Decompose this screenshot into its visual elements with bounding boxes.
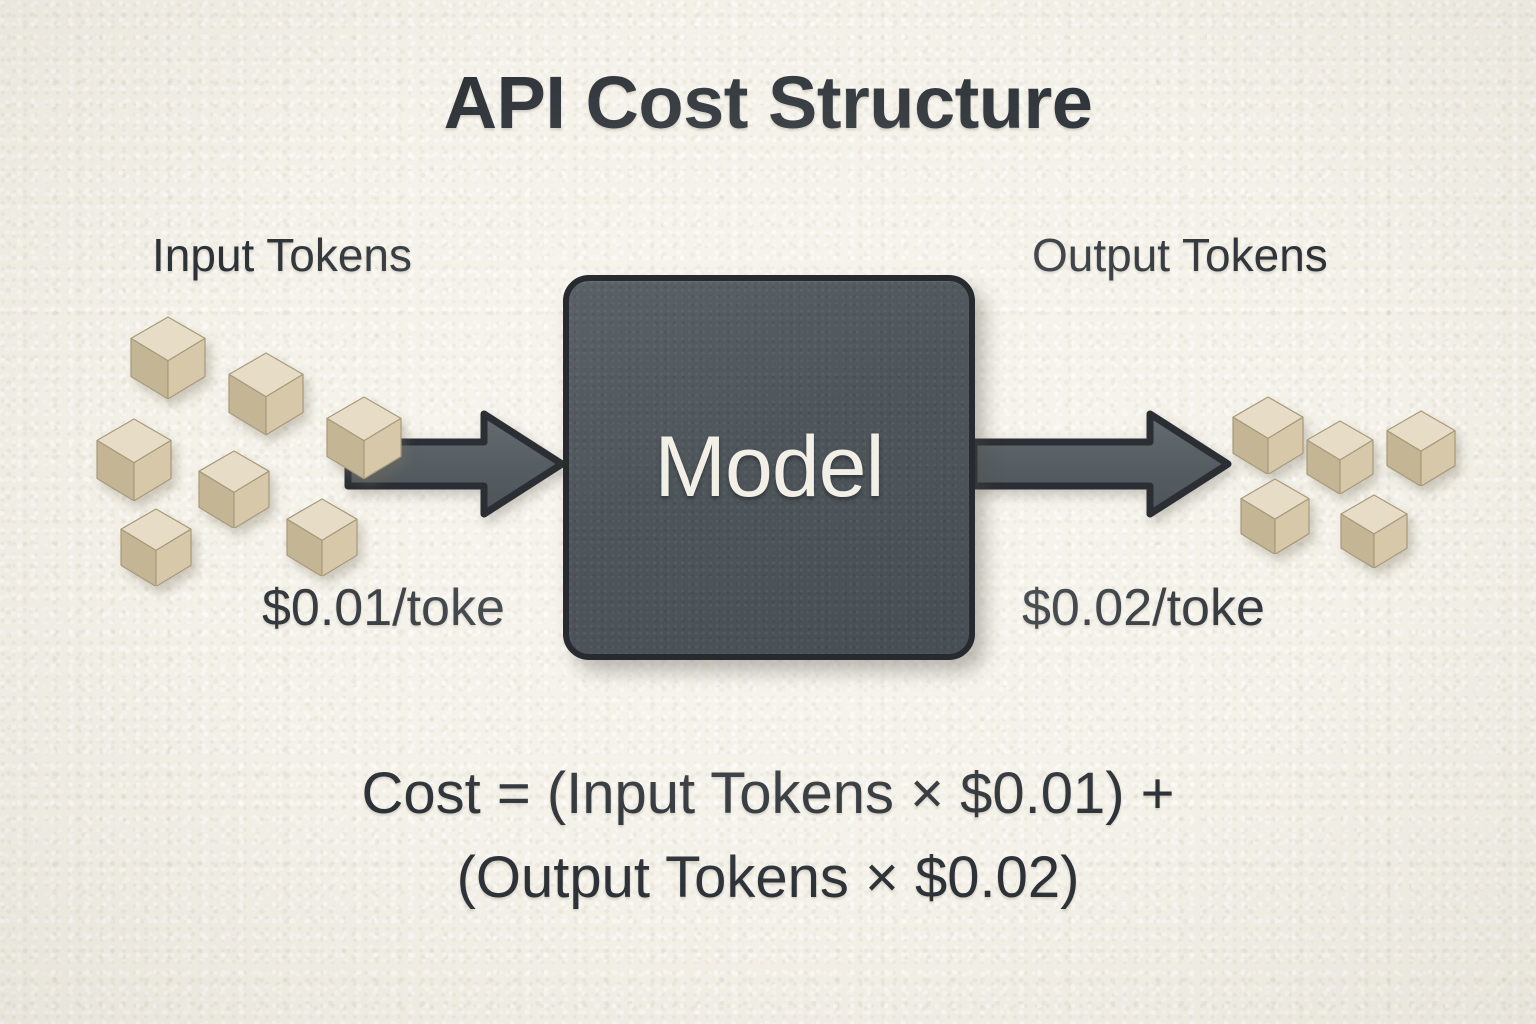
input-token-cube-icon	[96, 418, 172, 506]
input-price-label: $0.01/toke	[262, 578, 505, 638]
input-token-cube-icon	[120, 508, 192, 591]
output-token-cube-icon	[1306, 420, 1374, 499]
output-token-cube-icon	[1232, 396, 1304, 479]
cost-formula: Cost = (Input Tokens × $0.01) + (Output …	[0, 752, 1536, 920]
output-price-label: $0.02/toke	[1022, 578, 1265, 638]
output-flow-arrow-icon	[970, 408, 1234, 525]
model-box-label: Model	[654, 418, 883, 517]
input-token-cube-icon	[326, 396, 402, 484]
input-token-cube-icon	[228, 352, 304, 440]
diagram-canvas: API Cost Structure Input Tokens Output T…	[0, 0, 1536, 1024]
cost-formula-line-1: Cost = (Input Tokens × $0.01) +	[0, 752, 1536, 836]
input-token-cube-icon	[198, 450, 270, 533]
output-token-cube-icon	[1386, 410, 1456, 491]
page-title: API Cost Structure	[0, 60, 1536, 145]
input-token-cube-icon	[130, 316, 206, 404]
input-tokens-label: Input Tokens	[152, 228, 412, 282]
output-token-cube-icon	[1340, 494, 1408, 573]
model-box[interactable]: Model	[563, 275, 975, 660]
input-token-cube-icon	[286, 498, 358, 581]
output-token-cube-icon	[1240, 478, 1310, 559]
cost-formula-line-2: (Output Tokens × $0.02)	[0, 836, 1536, 920]
output-tokens-label: Output Tokens	[1032, 228, 1328, 282]
